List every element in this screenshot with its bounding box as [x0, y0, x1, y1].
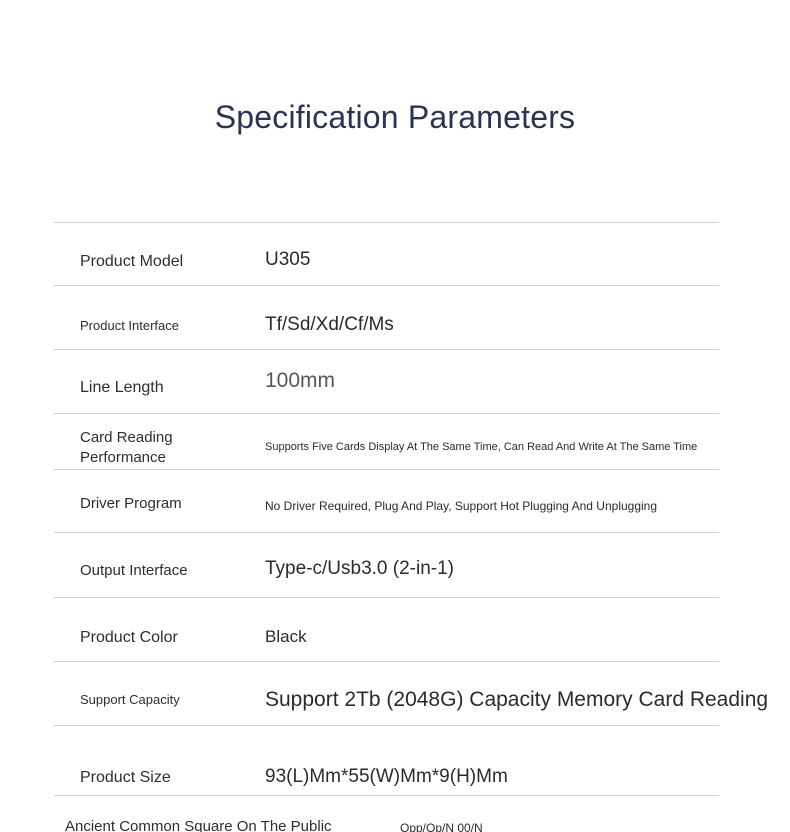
- table-divider: [54, 469, 719, 470]
- table-divider: [54, 661, 719, 662]
- spec-value: Supports Five Cards Display At The Same …: [265, 439, 697, 455]
- table-divider: [54, 285, 719, 286]
- spec-value: Tf/Sd/Xd/Cf/Ms: [265, 313, 394, 337]
- spec-label: Support Capacity: [80, 691, 180, 709]
- spec-value: Support 2Tb (2048G) Capacity Memory Card…: [265, 687, 768, 713]
- spec-value: U305: [265, 248, 310, 272]
- spec-label: Product Interface: [80, 317, 179, 335]
- spec-value: Opp/Op/N 00/N: [400, 820, 483, 832]
- table-divider: [54, 725, 719, 726]
- table-divider: [54, 413, 719, 414]
- spec-value: Black: [265, 626, 307, 648]
- spec-value: 93(L)Mm*55(W)Mm*9(H)Mm: [265, 765, 508, 789]
- spec-value: 100mm: [265, 368, 335, 394]
- spec-value: No Driver Required, Plug And Play, Suppo…: [265, 498, 657, 515]
- page-title: Specification Parameters: [0, 97, 790, 137]
- spec-label: Driver Program: [80, 494, 182, 514]
- table-divider: [54, 532, 719, 533]
- table-divider: [54, 795, 719, 796]
- spec-label: Output Interface: [80, 561, 188, 581]
- specification-page: Specification Parameters Product Model U…: [0, 0, 790, 832]
- spec-label: Product Color: [80, 627, 178, 648]
- table-divider: [54, 597, 719, 598]
- spec-label: Card Reading Performance: [80, 428, 173, 468]
- spec-label: Product Size: [80, 767, 171, 788]
- spec-label: Line Length: [80, 377, 164, 398]
- spec-label: Product Model: [80, 251, 183, 272]
- spec-value: Type-c/Usb3.0 (2-in-1): [265, 557, 454, 581]
- spec-label: Ancient Common Square On The Public: [65, 817, 332, 832]
- table-divider: [54, 222, 719, 223]
- table-divider: [54, 349, 719, 350]
